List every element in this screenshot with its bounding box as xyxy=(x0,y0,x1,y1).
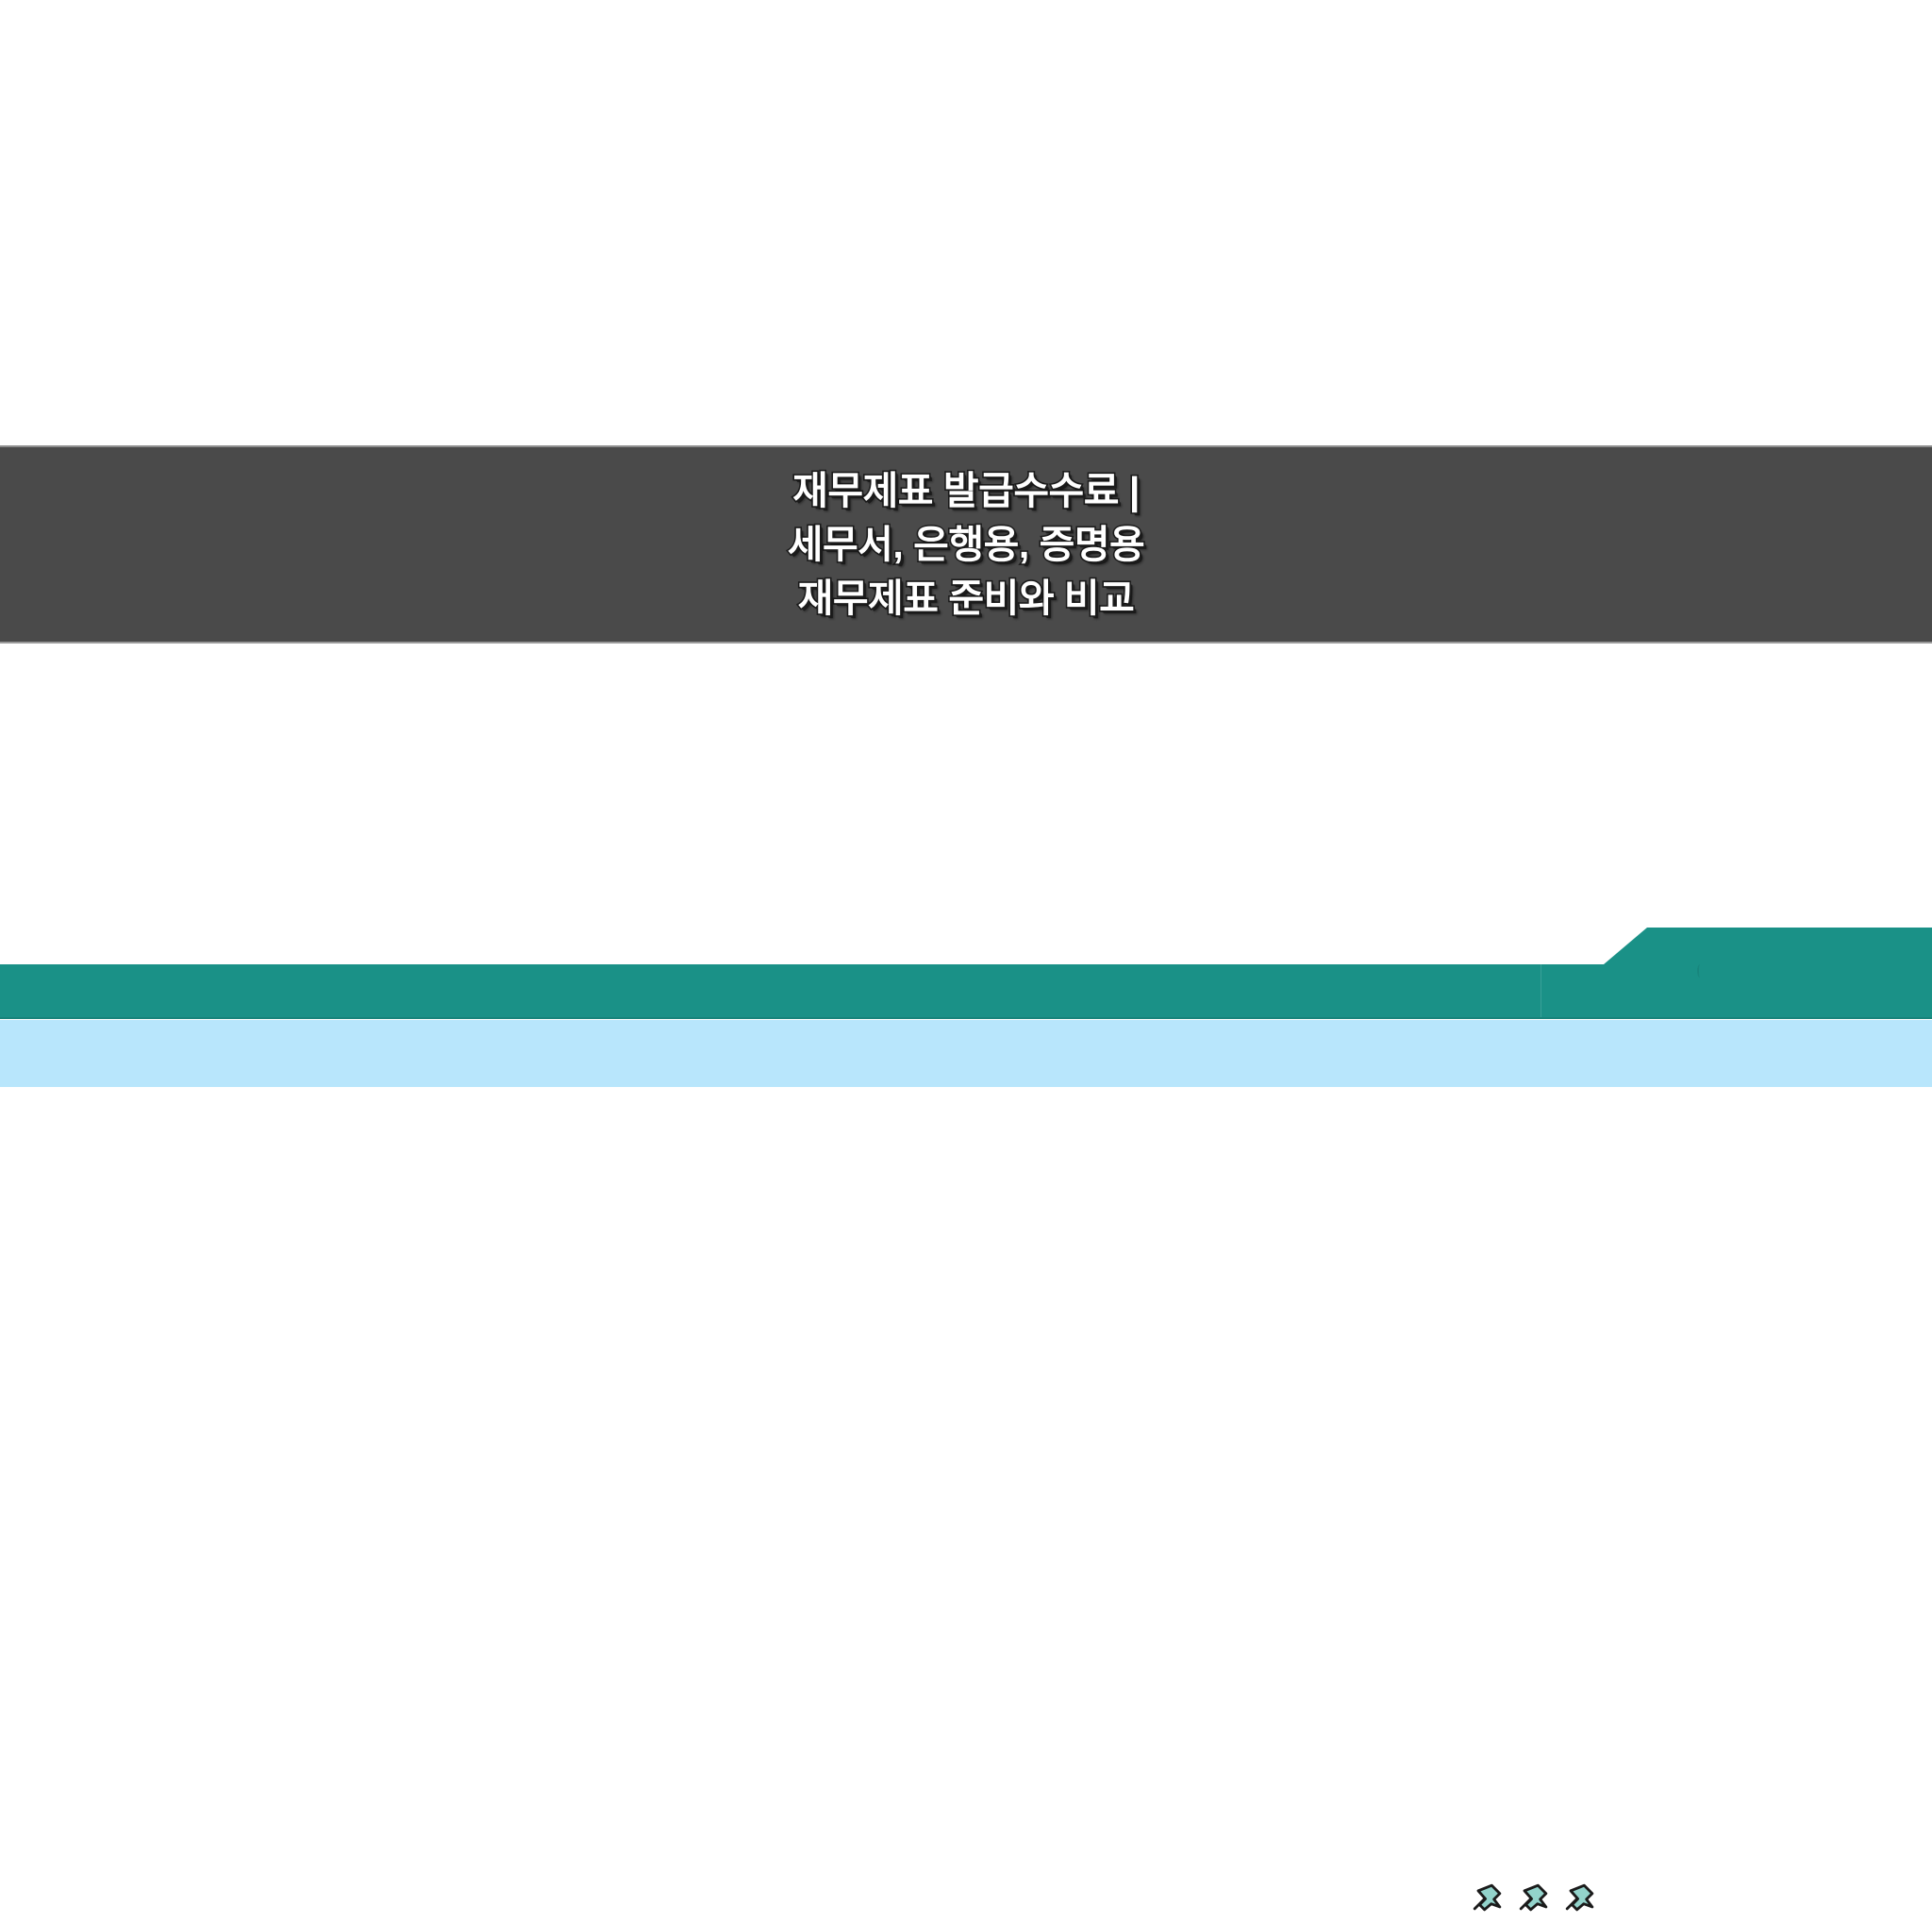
page-canvas: 재무제표 발급수수료 | 세무서, 은행용, 증명용 재무제표 준비와 비교 xyxy=(0,0,1932,1087)
teal-seam-divider xyxy=(1541,964,1541,1019)
pushpin-icon-1 xyxy=(1470,1880,1506,1915)
cyan-footer-band xyxy=(0,1020,1932,1087)
page-title-line-1: 재무제표 발급수수료 | xyxy=(792,464,1140,518)
page-title-line-3: 재무제표 준비와 비교 xyxy=(798,572,1135,626)
pushpin-icon-2 xyxy=(1516,1880,1552,1915)
teal-blemish-mark xyxy=(1697,964,1703,978)
page-title-line-2: 세무서, 은행용, 증명용 xyxy=(788,518,1145,572)
teal-stepped-banner xyxy=(0,906,1932,1021)
pushpin-icon-3 xyxy=(1562,1880,1598,1915)
hero-title-band: 재무제표 발급수수료 | 세무서, 은행용, 증명용 재무제표 준비와 비교 xyxy=(0,445,1932,644)
pushpin-icon-row xyxy=(1470,1872,1602,1923)
